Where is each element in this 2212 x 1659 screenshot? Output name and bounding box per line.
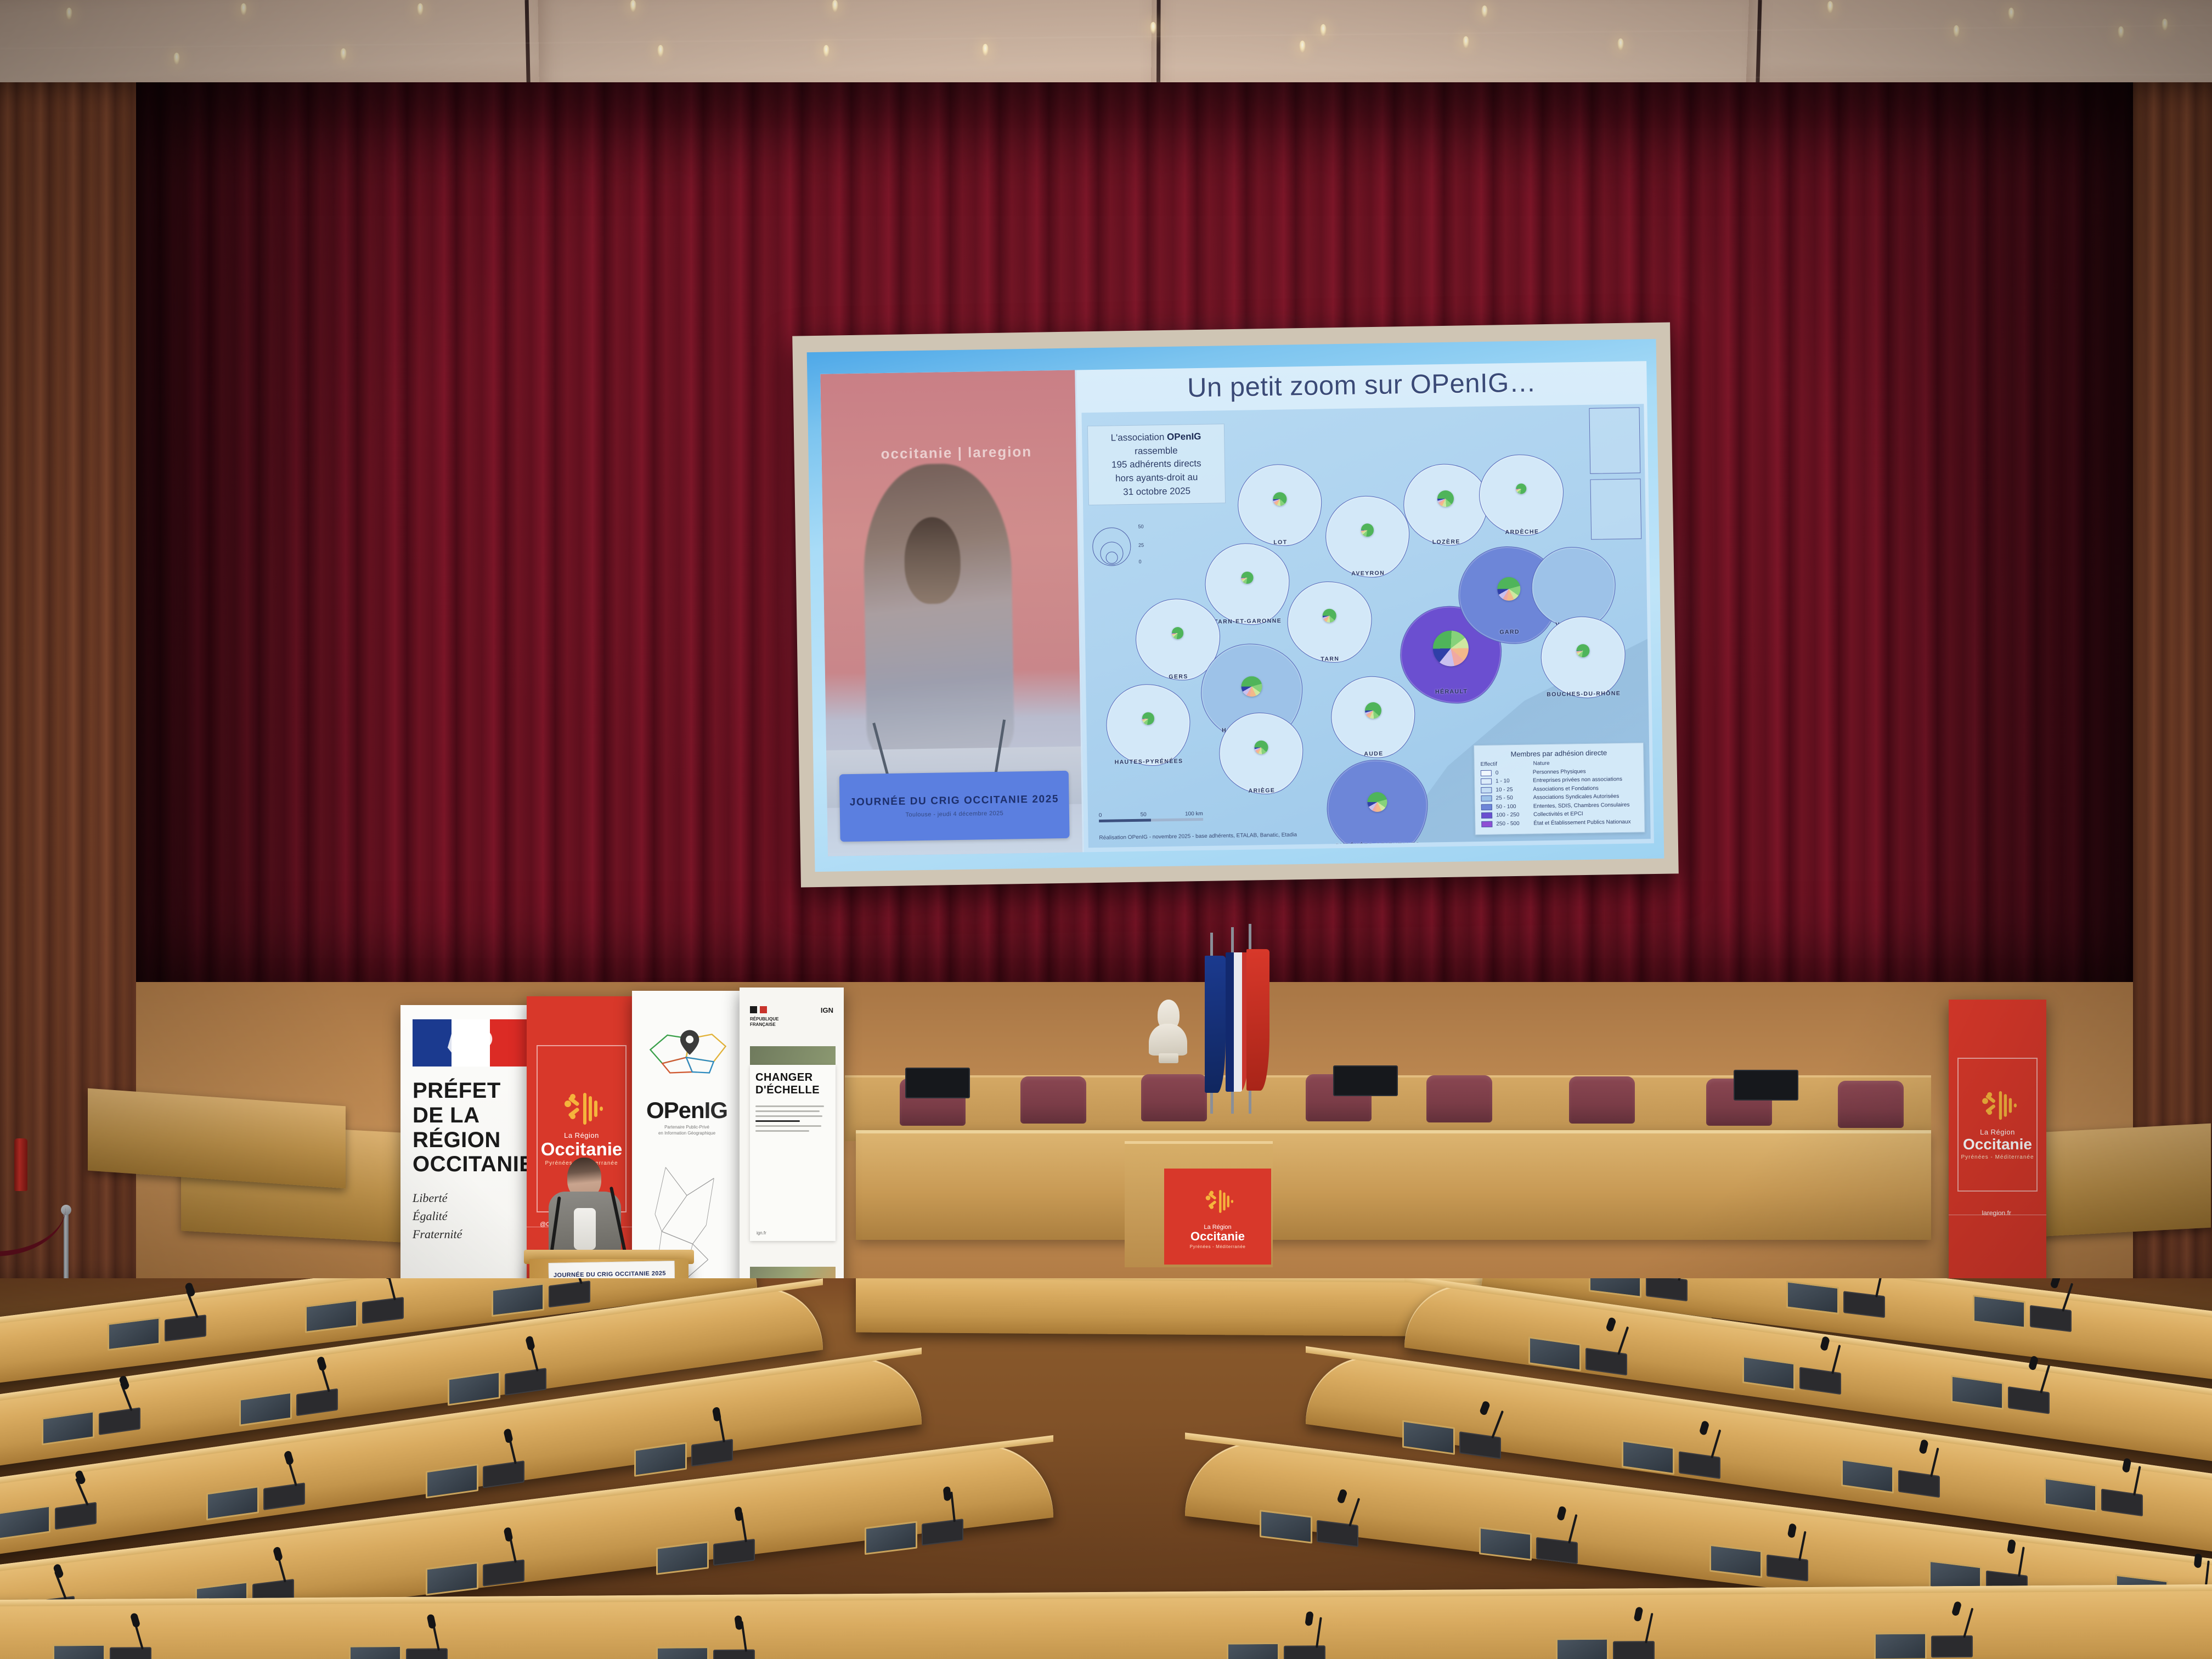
delegate-console[interactable] xyxy=(1679,1451,1720,1479)
legend-swatch xyxy=(1481,787,1492,793)
legend-value: 1 - 10 xyxy=(1496,777,1533,786)
legend-swatch xyxy=(1481,795,1492,802)
delegate-microphone[interactable] xyxy=(2018,1547,2025,1577)
microphone-head xyxy=(2122,1457,2132,1473)
ceiling-spotlight xyxy=(1617,38,1624,50)
conference-hall-photo: occitanie | laregion JOURNÉE DU CRIG OCC… xyxy=(0,0,2212,1659)
map-department-label: GARD xyxy=(1499,629,1520,636)
legend-value: 100 - 250 xyxy=(1496,811,1533,820)
openig-word-ig: IG xyxy=(704,1097,727,1123)
map-pie-symbol xyxy=(1142,712,1154,725)
delegate-screen[interactable] xyxy=(1402,1420,1455,1454)
map-department-label: GERS xyxy=(1169,673,1188,680)
occitan-cross-icon xyxy=(561,1092,602,1126)
legend-value: 10 - 25 xyxy=(1496,785,1533,794)
microphone-head xyxy=(130,1612,141,1628)
delegate-screen[interactable] xyxy=(349,1645,402,1659)
delegate-screen[interactable] xyxy=(42,1410,94,1445)
map-department-label: HAUTES-PYRÉNÉES xyxy=(1115,758,1183,766)
lectern-sign-title: JOURNÉE DU CRIG OCCITANIE 2025 xyxy=(554,1270,674,1279)
ign-title-l1: CHANGER xyxy=(755,1071,813,1084)
legend-nature: Entreprises privées non associations xyxy=(1533,775,1622,785)
delegate-console[interactable] xyxy=(2030,1305,2072,1332)
delegate-console[interactable] xyxy=(99,1407,140,1435)
legend-nature: État et Établissement Publics Nationaux xyxy=(1533,817,1631,827)
delegate-screen[interactable] xyxy=(1556,1638,1609,1659)
map-department-label: ARIÈGE xyxy=(1249,787,1276,794)
delegate-screen[interactable] xyxy=(492,1283,544,1317)
microphone-head xyxy=(1699,1420,1710,1436)
delegate-screen[interactable] xyxy=(1951,1375,2004,1409)
map-department-label: PYRÉNÉES-ORIENTALES xyxy=(1336,842,1420,848)
ign-logo: IGN xyxy=(821,1006,833,1014)
delegate-microphone[interactable] xyxy=(1963,1608,1973,1638)
caption-title: JOURNÉE DU CRIG OCCITANIE 2025 xyxy=(850,793,1059,809)
delegate-console[interactable] xyxy=(922,1519,963,1545)
map-department-label: LOZÈRE xyxy=(1432,538,1460,545)
caption-subtitle: Toulouse - jeudi 4 décembre 2025 xyxy=(905,810,1003,818)
delegate-microphone[interactable] xyxy=(1617,1326,1629,1355)
presidium-monitor xyxy=(1734,1070,1798,1101)
prefet-title-line2: DE LA RÉGION xyxy=(413,1103,501,1152)
devise-liberte: Liberté xyxy=(413,1189,529,1207)
delegate-microphone[interactable] xyxy=(387,1278,396,1301)
map-legend: Membres par adhésion directe Effectif Na… xyxy=(1474,742,1645,835)
delegate-console[interactable] xyxy=(2101,1489,2143,1517)
delegate-screen[interactable] xyxy=(1874,1633,1927,1659)
map-pie-symbol xyxy=(1516,483,1527,494)
delegate-microphone[interactable] xyxy=(1711,1429,1721,1458)
ceiling-spotlight xyxy=(1150,22,1156,34)
delegate-console[interactable] xyxy=(1898,1470,1940,1498)
legend-swatch xyxy=(1481,804,1492,810)
microphone-head xyxy=(317,1356,328,1372)
ign-header: IGN RÉPUBLIQUE FRANÇAISE xyxy=(750,1006,833,1028)
region-label-big: Occitanie xyxy=(541,1140,623,1158)
delegate-screen[interactable] xyxy=(1786,1280,1839,1314)
delegate-screen[interactable] xyxy=(865,1521,917,1555)
ceiling-spotlight xyxy=(1953,25,1960,37)
delegate-microphone[interactable] xyxy=(1831,1345,1841,1374)
map-department-label: TARN xyxy=(1321,656,1339,663)
microphone-head xyxy=(1787,1523,1797,1539)
legend-value: 250 - 500 xyxy=(1496,819,1533,828)
legend-swatch xyxy=(1481,812,1492,819)
delegate-screen[interactable] xyxy=(53,1644,105,1659)
microphone-head xyxy=(1336,1488,1347,1504)
delegate-screen[interactable] xyxy=(1227,1643,1279,1659)
openig-wordmark: OPenIG xyxy=(632,1097,742,1124)
delegate-console[interactable] xyxy=(483,1559,524,1586)
microphone-head xyxy=(1918,1438,1929,1454)
eu-flag xyxy=(1205,956,1226,1093)
slide-caption: JOURNÉE DU CRIG OCCITANIE 2025 Toulouse … xyxy=(839,770,1069,842)
microphone-head xyxy=(2007,1539,2016,1555)
delegate-screen[interactable] xyxy=(1709,1544,1762,1578)
delegate-microphone[interactable] xyxy=(1798,1531,1807,1561)
map-department xyxy=(1205,543,1290,625)
legend-value: 25 - 50 xyxy=(1496,794,1533,803)
delegate-console[interactable] xyxy=(296,1389,338,1417)
microphone-head xyxy=(1479,1400,1491,1416)
occitanie-choropleth-map: L'association OPenIG rassemble 195 adhér… xyxy=(1081,404,1650,848)
delegate-console[interactable] xyxy=(362,1297,404,1324)
ceiling-spotlight xyxy=(2118,26,2124,38)
banner-region-occitanie-right: La Région Occitanie Pyrénées - Méditerra… xyxy=(1949,1000,2046,1290)
ceiling-spotlight xyxy=(240,3,247,15)
region-right-label-tiny: Pyrénées - Méditerranée xyxy=(1961,1154,2034,1160)
microphone-head xyxy=(943,1486,952,1502)
microphone-head xyxy=(1556,1505,1567,1521)
scalebar-zero: 0 xyxy=(1099,812,1102,819)
rope-barrier-post xyxy=(64,1212,69,1284)
delegate-console[interactable] xyxy=(713,1539,755,1566)
map-department-label: TARN-ET-GARONNE xyxy=(1214,617,1282,625)
legend-col-effectif: Effectif xyxy=(1481,760,1533,768)
legend-swatch xyxy=(1481,778,1492,785)
microphone-head xyxy=(53,1563,64,1579)
delegate-console[interactable] xyxy=(263,1482,305,1510)
delegate-microphone[interactable] xyxy=(1930,1447,1939,1477)
delegate-screen[interactable] xyxy=(108,1317,160,1351)
presidium-plaque-big: Occitanie xyxy=(1190,1231,1245,1243)
delegate-screen[interactable] xyxy=(448,1371,500,1406)
ceiling-spotlight xyxy=(1299,41,1306,53)
microphone-head xyxy=(426,1614,436,1629)
microphone-head xyxy=(734,1615,743,1630)
delegate-screen[interactable] xyxy=(1260,1510,1312,1544)
map-pie-symbol xyxy=(1361,523,1374,537)
prefet-title-line1: PRÉFET xyxy=(413,1079,501,1103)
delegate-microphone[interactable] xyxy=(1645,1613,1654,1644)
delegate-screen[interactable] xyxy=(0,1505,50,1540)
legend-swatch xyxy=(1481,821,1492,827)
microphone-head xyxy=(525,1335,535,1351)
map-department-label: AUDE xyxy=(1364,751,1384,758)
marianne-bust xyxy=(1149,1000,1187,1063)
presidium-monitor xyxy=(1333,1065,1398,1096)
ceiling-spotlight xyxy=(832,0,838,12)
delegate-microphone[interactable] xyxy=(1568,1514,1577,1544)
legend-swatch xyxy=(1481,770,1492,776)
microphone-head xyxy=(284,1450,295,1466)
openig-subtitle: Partenaire Public-Privé en Information G… xyxy=(632,1124,742,1136)
slide-photo-panel: occitanie | laregion JOURNÉE DU CRIG OCC… xyxy=(820,370,1084,856)
region-right-label-big: Occitanie xyxy=(1963,1137,2032,1152)
ceiling-spotlight xyxy=(1463,36,1469,48)
legend-value: 50 - 100 xyxy=(1496,802,1533,811)
ign-title-l2: D'ÉCHELLE xyxy=(755,1084,820,1096)
delegate-console[interactable] xyxy=(1799,1367,1841,1395)
presidium-desk xyxy=(856,1130,1931,1240)
map-department-label: BOUCHES-DU-RHÔNE xyxy=(1547,690,1621,698)
presidium-occitanie-plaque: La Région Occitanie Pyrénées - Méditerra… xyxy=(1164,1169,1271,1265)
ceiling-spotlight xyxy=(823,45,830,57)
delegate-screen[interactable] xyxy=(656,1541,709,1575)
delegate-console[interactable] xyxy=(165,1314,206,1341)
scalebar-mid: 50 xyxy=(1141,812,1147,818)
presidium-plaque-tiny: Pyrénées - Méditerranée xyxy=(1190,1244,1246,1249)
presidium-chair xyxy=(1838,1081,1904,1128)
delegate-console[interactable] xyxy=(406,1648,448,1659)
marianne-logo-icon xyxy=(413,1019,529,1066)
legend-nature: Personnes Physiques xyxy=(1533,768,1586,777)
microphone-head xyxy=(1951,1601,1962,1617)
map-department-label: HÉRAULT xyxy=(1435,689,1468,696)
openig-subtitle-l2: en Information Géographique xyxy=(658,1131,715,1136)
legend-nature: Ententes, SDIS, Chambres Consulaires xyxy=(1533,800,1630,810)
delegate-screen[interactable] xyxy=(426,1562,478,1596)
occitanie-logo-block-right: La Région Occitanie Pyrénées - Méditerra… xyxy=(1957,1058,2038,1192)
scalebar-max: 100 km xyxy=(1185,811,1203,817)
occitan-cross-icon xyxy=(1203,1189,1232,1214)
delegate-console[interactable] xyxy=(549,1280,590,1307)
microphone-head xyxy=(2194,1553,2203,1568)
ceiling-spotlight xyxy=(630,0,636,12)
ceiling-spotlight xyxy=(2162,19,2168,31)
microphone-head xyxy=(734,1506,743,1522)
ign-footer-url: ign.fr xyxy=(757,1231,766,1235)
delegate-console[interactable] xyxy=(1646,1278,1688,1301)
legend-col-nature: Nature xyxy=(1533,760,1550,766)
delegate-microphone[interactable] xyxy=(1491,1410,1504,1439)
delegate-screen[interactable] xyxy=(1973,1295,2025,1329)
delegate-screen[interactable] xyxy=(2044,1477,2097,1512)
map-pie-symbol xyxy=(1433,630,1469,667)
delegate-console[interactable] xyxy=(1931,1635,1973,1658)
delegate-console[interactable] xyxy=(1767,1554,1808,1581)
projection-screen: occitanie | laregion JOURNÉE DU CRIG OCC… xyxy=(792,322,1679,887)
speaker-shirt xyxy=(574,1208,596,1250)
delegate-console[interactable] xyxy=(1317,1520,1358,1547)
delegate-screen[interactable] xyxy=(239,1391,292,1426)
map-pie-symbol xyxy=(1576,644,1589,657)
occitanie-flag xyxy=(1246,949,1269,1091)
ceiling-spotlight xyxy=(340,48,347,60)
map-department-label: AVEYRON xyxy=(1351,570,1385,577)
microphone-head xyxy=(273,1546,283,1562)
photo-overlay-text: occitanie | laregion xyxy=(847,443,1066,463)
ceiling-spotlight xyxy=(173,53,180,65)
delegate-screen[interactable] xyxy=(1841,1459,1894,1493)
audience-hemicycle xyxy=(0,1278,2212,1659)
delegate-console[interactable] xyxy=(110,1647,151,1659)
ign-republique-l1: RÉPUBLIQUE xyxy=(750,1017,778,1022)
delegate-screen[interactable] xyxy=(426,1464,478,1498)
delegate-microphone[interactable] xyxy=(1316,1617,1322,1648)
openig-word-open: OPen xyxy=(646,1097,704,1123)
openig-subtitle-l1: Partenaire Public-Privé xyxy=(664,1125,709,1130)
presentation-slide: occitanie | laregion JOURNÉE DU CRIG OCC… xyxy=(807,339,1664,872)
microphone-head xyxy=(2050,1278,2061,1289)
occitan-cross-icon xyxy=(1979,1090,2016,1121)
map-scalebar: 0 50 100 km xyxy=(1099,811,1203,822)
delegate-microphone[interactable] xyxy=(1875,1278,1884,1297)
region-right-url: laregion.fr xyxy=(1982,1209,2011,1217)
microphone-head xyxy=(382,1278,393,1280)
delegate-console[interactable] xyxy=(1284,1645,1325,1659)
map-department xyxy=(1105,684,1191,766)
ceiling-spotlight xyxy=(1320,24,1327,36)
legend-row: 250 - 500État et Établissement Publics N… xyxy=(1481,817,1638,828)
devise-fraternite: Fraternité xyxy=(413,1225,529,1243)
ceiling-spotlight xyxy=(417,3,424,15)
delegate-screen[interactable] xyxy=(206,1486,259,1520)
presidium-chair xyxy=(1020,1076,1086,1124)
legend-value: 0 xyxy=(1496,768,1533,777)
delegate-console[interactable] xyxy=(713,1649,755,1659)
microphone-head xyxy=(1605,1317,1616,1333)
delegate-console[interactable] xyxy=(1843,1291,1885,1318)
legend-nature: Associations et Fondations xyxy=(1533,784,1599,793)
ign-body-text-lines xyxy=(755,1105,830,1132)
presidium-chair xyxy=(1141,1074,1207,1121)
delegate-screen[interactable] xyxy=(1742,1356,1795,1390)
delegate-microphone[interactable] xyxy=(1348,1498,1360,1527)
prefet-title-line3: OCCITANIE xyxy=(413,1152,534,1176)
ceiling-spotlight xyxy=(982,44,989,56)
delegate-console[interactable] xyxy=(1613,1641,1655,1659)
delegate-console[interactable] xyxy=(505,1368,546,1396)
ign-title-card: CHANGER D'ÉCHELLE ign.fr xyxy=(750,1065,836,1242)
delegate-screen[interactable] xyxy=(305,1299,358,1333)
microphone-head xyxy=(503,1428,513,1444)
ceiling-spotlight xyxy=(657,45,664,57)
legend-title: Membres par adhésion directe xyxy=(1480,748,1637,758)
map-pie-symbol xyxy=(1242,676,1262,697)
ceiling-spotlight xyxy=(1481,5,1488,18)
delegate-screen[interactable] xyxy=(656,1646,709,1659)
fire-extinguisher xyxy=(14,1138,27,1191)
legend-nature: Collectivités et EPCI xyxy=(1533,810,1583,819)
map-department-label: LOT xyxy=(1273,539,1287,545)
slide-map-panel: Un petit zoom sur OPenIG… L'association … xyxy=(1076,361,1654,852)
delegate-screen[interactable] xyxy=(634,1442,687,1476)
region-label-small: La Région xyxy=(564,1131,599,1139)
delegate-console[interactable] xyxy=(1536,1537,1578,1564)
delegate-console[interactable] xyxy=(483,1460,524,1488)
delegate-console[interactable] xyxy=(2008,1386,2050,1414)
delegate-console[interactable] xyxy=(55,1502,97,1530)
delegate-screen[interactable] xyxy=(1479,1527,1532,1561)
ceiling-spotlight xyxy=(2008,8,2015,20)
ign-republique-l2: FRANÇAISE xyxy=(750,1022,776,1027)
ceiling-spotlight xyxy=(66,8,72,20)
devise-egalite: Égalité xyxy=(413,1207,529,1225)
delegate-console[interactable] xyxy=(691,1439,733,1467)
region-right-label-small: La Région xyxy=(1980,1128,2015,1136)
map-department-label: ARDÈCHE xyxy=(1505,528,1539,535)
delegate-screen[interactable] xyxy=(1528,1336,1581,1371)
presidium-monitor xyxy=(905,1068,970,1098)
microphone-head xyxy=(1305,1611,1313,1626)
microphone-head xyxy=(1633,1606,1643,1622)
delegate-console[interactable] xyxy=(1585,1348,1627,1376)
openig-map-pin-logo-icon xyxy=(645,1008,731,1094)
presidium-chair xyxy=(1426,1075,1492,1122)
map-department xyxy=(1479,454,1564,537)
ceiling-spotlight xyxy=(1827,1,1833,13)
delegate-screen[interactable] xyxy=(1589,1278,1641,1298)
slide-title: Un petit zoom sur OPenIG… xyxy=(1076,365,1647,405)
delegate-console[interactable] xyxy=(1459,1431,1501,1459)
delegate-microphone[interactable] xyxy=(2133,1466,2141,1496)
delegate-screen[interactable] xyxy=(1622,1440,1674,1475)
presidium-chair xyxy=(1569,1076,1635,1124)
